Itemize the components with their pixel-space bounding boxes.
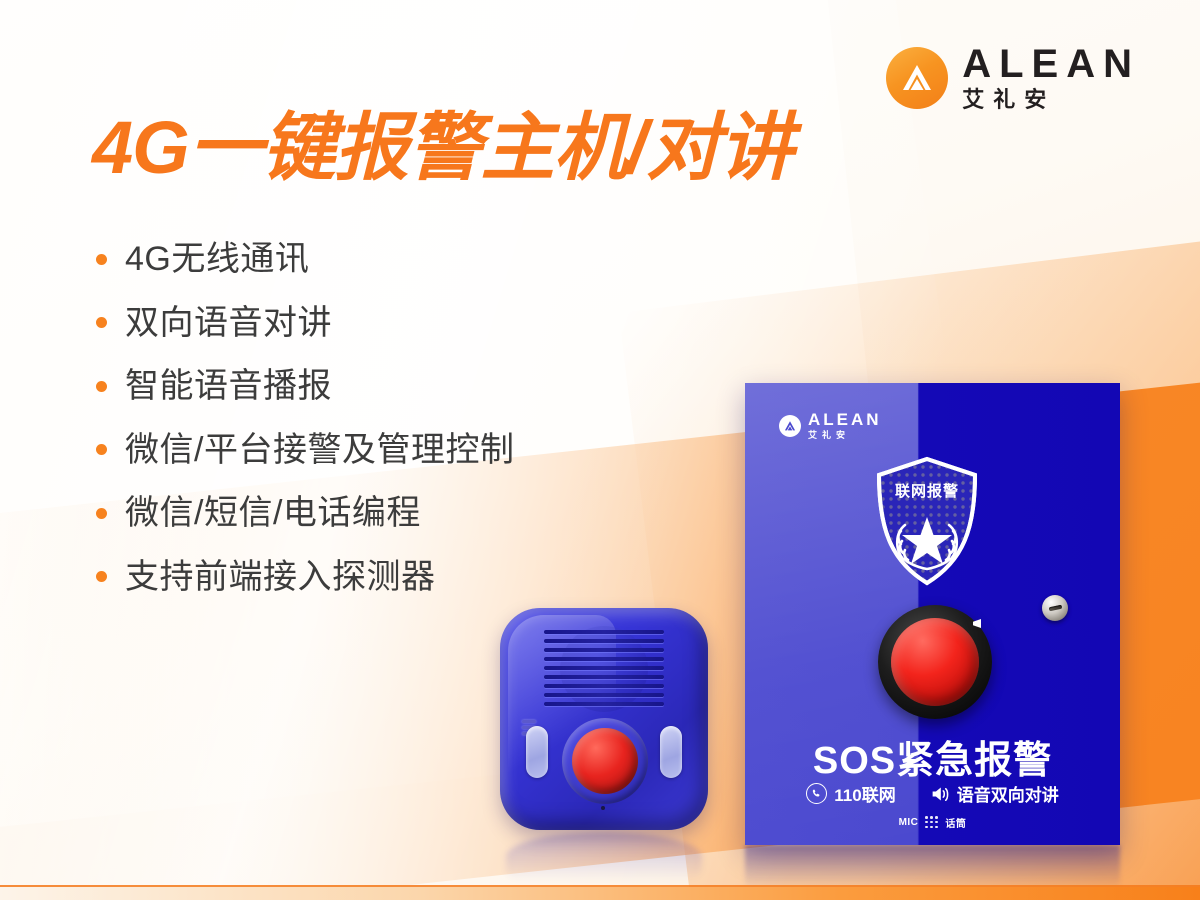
brand-name-en: ALEAN [962, 44, 1140, 84]
panel-brand-name-en: ALEAN [808, 411, 882, 428]
page-title: 4G一键报警主机/对讲 [92, 88, 792, 195]
list-item: 双向语音对讲 [96, 302, 716, 345]
bullet-dot-icon [96, 254, 107, 265]
mic-label-right: 话筒 [945, 815, 966, 830]
sos-emergency-button[interactable] [891, 618, 979, 706]
panel-title: SOS紧急报警 [745, 729, 1120, 784]
panel-feature-110: 110联网 [806, 781, 895, 806]
siren-side-button-left[interactable] [526, 726, 548, 778]
siren-emergency-button[interactable] [572, 728, 638, 794]
feature-label: 4G无线通讯 [125, 238, 309, 281]
sos-button-bezel [878, 605, 992, 719]
panel-brand-name-cn: 艾礼安 [808, 431, 882, 440]
siren-side-button-right[interactable] [660, 726, 682, 778]
feature-label: 支持前端接入探测器 [125, 556, 436, 599]
panel-feature-label: 110联网 [834, 781, 895, 806]
police-shield-star-badge-icon: 联网报警 [871, 455, 983, 587]
brand-name-cn: 艾礼安 [962, 89, 1140, 111]
list-item: 支持前端接入探测器 [96, 556, 716, 599]
bullet-dot-icon [96, 571, 107, 582]
alean-triangle-logo-icon [886, 47, 948, 109]
panel-mic-row: MIC 话筒 [745, 815, 1120, 830]
microphone-grille-icon [925, 816, 938, 829]
speaker-icon [930, 785, 950, 803]
poster-canvas: ALEAN 艾礼安 4G一键报警主机/对讲 4G无线通讯 双向语音对讲 智能语音… [0, 0, 1200, 900]
brand-text: ALEAN 艾礼安 [962, 44, 1140, 111]
feature-label: 微信/平台接警及管理控制 [125, 429, 514, 472]
brand-logo: ALEAN 艾礼安 [886, 44, 1140, 111]
siren-button-ring [562, 718, 648, 804]
feature-label: 智能语音播报 [125, 365, 332, 408]
sos-alarm-panel: ALEAN 艾礼安 [745, 383, 1120, 845]
badge-label: 联网报警 [871, 480, 983, 501]
feature-label: 双向语音对讲 [125, 302, 332, 345]
sos-button-marker-icon [973, 619, 981, 628]
phone-icon [806, 783, 827, 804]
panel-feature-intercom: 语音双向对讲 [930, 781, 1059, 806]
bullet-dot-icon [96, 317, 107, 328]
feature-list: 4G无线通讯 双向语音对讲 智能语音播报 微信/平台接警及管理控制 微信/短信/… [96, 238, 716, 619]
bullet-dot-icon [96, 508, 107, 519]
panel-feature-row: 110联网 语音双向对讲 [745, 781, 1120, 806]
siren-mic-hole-icon [601, 806, 605, 810]
panel-brand-logo: ALEAN 艾礼安 [779, 411, 882, 440]
bullet-dot-icon [96, 444, 107, 455]
panel-feature-label: 语音双向对讲 [957, 781, 1059, 806]
list-item: 微信/平台接警及管理控制 [96, 429, 716, 472]
panel-brand-text: ALEAN 艾礼安 [808, 411, 882, 440]
alean-triangle-logo-icon [779, 415, 801, 437]
list-item: 微信/短信/电话编程 [96, 492, 716, 535]
list-item: 4G无线通讯 [96, 238, 716, 281]
mic-label-left: MIC [899, 817, 919, 828]
key-lock-icon[interactable] [1042, 595, 1068, 621]
feature-label: 微信/短信/电话编程 [125, 492, 421, 535]
speaker-grille-icon [544, 630, 664, 706]
list-item: 智能语音播报 [96, 365, 716, 408]
bottom-accent-strip [0, 887, 1200, 900]
wireless-siren-device [500, 608, 708, 830]
bullet-dot-icon [96, 381, 107, 392]
